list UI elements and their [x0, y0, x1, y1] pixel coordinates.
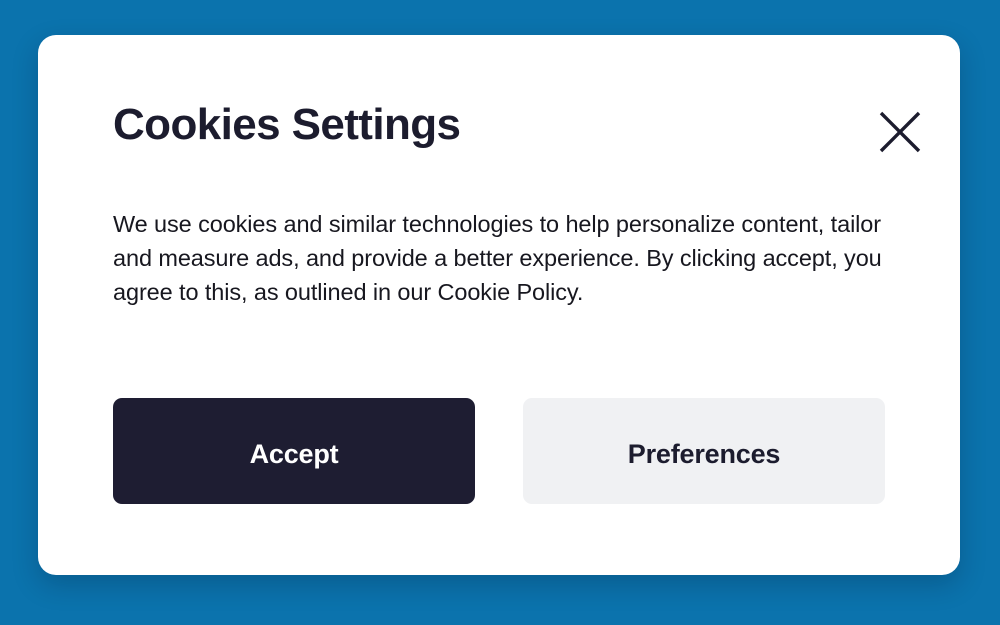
page-title: Cookies Settings — [113, 103, 460, 147]
dialog-body: We use cookies and similar technologies … — [113, 207, 903, 309]
cookie-consent-dialog: Cookies Settings We use cookies and simi… — [38, 35, 960, 575]
close-button[interactable] — [866, 98, 934, 166]
close-x-icon — [879, 111, 921, 153]
dialog-actions: Accept Preferences — [113, 398, 885, 504]
consent-description: We use cookies and similar technologies … — [113, 207, 903, 309]
preferences-button[interactable]: Preferences — [523, 398, 885, 504]
dialog-header: Cookies Settings — [38, 35, 960, 185]
accept-button[interactable]: Accept — [113, 398, 475, 504]
